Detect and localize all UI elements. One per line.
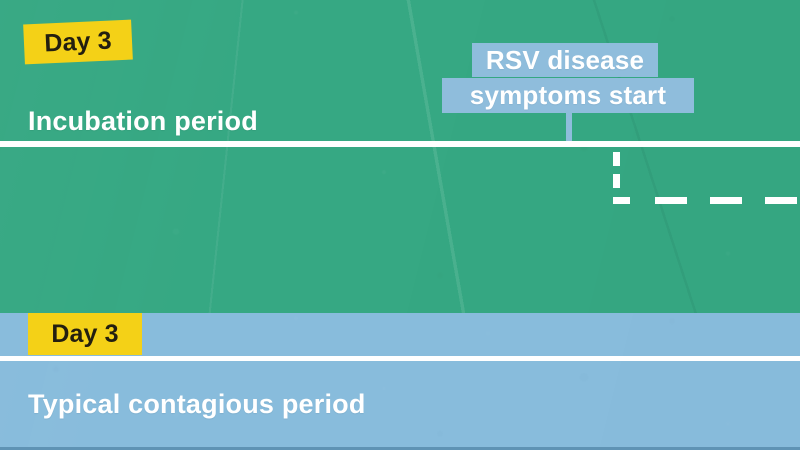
symptoms-start-callout: RSV disease symptoms start xyxy=(0,0,800,150)
horizontal-dash-segment xyxy=(613,197,630,204)
contagious-period-label: Typical contagious period xyxy=(28,389,366,420)
vertical-dash-segment xyxy=(613,152,620,166)
callout-line-2: symptoms start xyxy=(442,78,694,113)
symptoms-start-vertical-dashes xyxy=(613,152,620,200)
horizontal-dash-segment xyxy=(765,197,797,204)
horizontal-dash-segment xyxy=(655,197,687,204)
contagious-period-start-rule xyxy=(0,356,800,361)
contagious-day-badge: Day 3 xyxy=(28,313,142,355)
horizontal-dash-segment xyxy=(710,197,742,204)
vertical-dash-segment xyxy=(613,174,620,188)
rsv-timeline-graphic: Day 3 Incubation period RSV disease symp… xyxy=(0,0,800,450)
incubation-period-end-rule xyxy=(0,141,800,147)
callout-connector-line xyxy=(566,112,572,144)
symptoms-start-horizontal-dashes xyxy=(0,197,800,204)
callout-line-1: RSV disease xyxy=(472,43,658,77)
